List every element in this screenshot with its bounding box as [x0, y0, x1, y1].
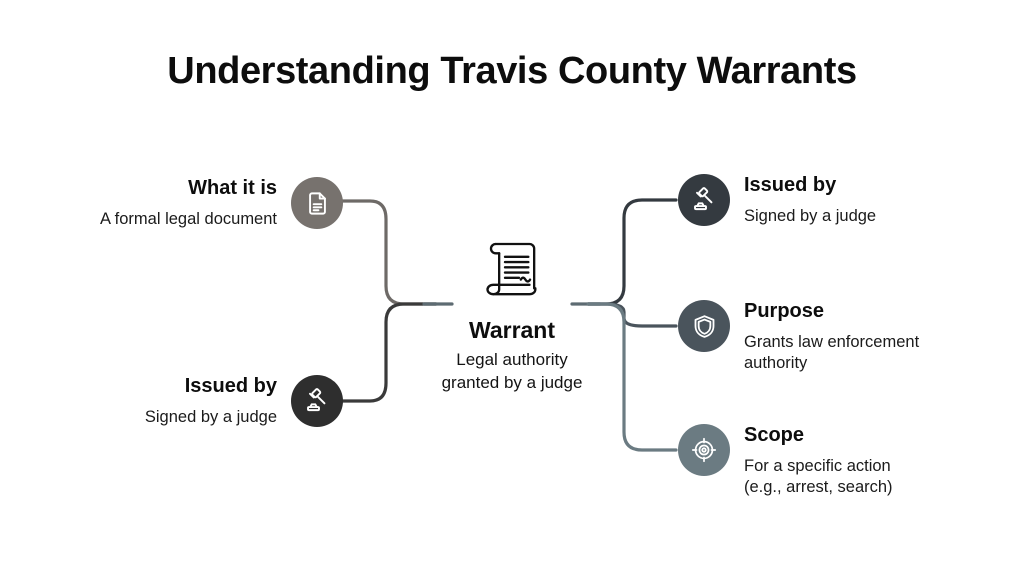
branch-what-it-is[interactable]: What it is A formal legal document	[26, 177, 343, 230]
branch-description: For a specific action (e.g., arrest, sea…	[744, 456, 1014, 499]
branch-title: Issued by	[26, 375, 277, 398]
badge-issued-by[interactable]	[678, 174, 730, 226]
branch-text-what-it-is: What it is A formal legal document	[26, 177, 277, 230]
badge-scope[interactable]	[678, 424, 730, 476]
badge-purpose[interactable]	[678, 300, 730, 352]
branch-description: Signed by a judge	[744, 206, 1014, 227]
center-description: Legal authority granted by a judge	[412, 349, 612, 394]
branch-text-scope: Scope For a specific action (e.g., arres…	[744, 424, 1014, 499]
branch-purpose[interactable]: Purpose Grants law enforcement authority	[678, 300, 1014, 375]
scroll-icon	[412, 237, 612, 309]
branch-text-left-issued-by: Issued by Signed by a judge	[26, 375, 277, 428]
branch-description: Grants law enforcement authority	[744, 332, 1014, 375]
branch-left-issued-by[interactable]: Issued by Signed by a judge	[26, 375, 343, 428]
branch-description: A formal legal document	[26, 209, 277, 230]
gavel-icon	[690, 186, 718, 214]
infographic-canvas: Understanding Travis County Warrants Wha…	[0, 0, 1024, 572]
branch-title: Scope	[744, 424, 1014, 447]
badge-what-it-is[interactable]	[291, 177, 343, 229]
branch-issued-by[interactable]: Issued by Signed by a judge	[678, 174, 1014, 227]
branch-text-issued-by: Issued by Signed by a judge	[744, 174, 1014, 227]
branch-scope[interactable]: Scope For a specific action (e.g., arres…	[678, 424, 1014, 499]
gavel-icon	[303, 387, 331, 415]
document-icon	[304, 190, 331, 217]
branch-text-purpose: Purpose Grants law enforcement authority	[744, 300, 1014, 375]
badge-left-issued-by[interactable]	[291, 375, 343, 427]
center-title: Warrant	[412, 318, 612, 343]
branch-title: Issued by	[744, 174, 1014, 197]
branch-title: Purpose	[744, 300, 1014, 323]
branch-title: What it is	[26, 177, 277, 200]
target-icon	[690, 436, 718, 464]
shield-icon	[691, 313, 718, 340]
center-node-warrant[interactable]: Warrant Legal authority granted by a jud…	[412, 237, 612, 394]
branch-description: Signed by a judge	[26, 407, 277, 428]
